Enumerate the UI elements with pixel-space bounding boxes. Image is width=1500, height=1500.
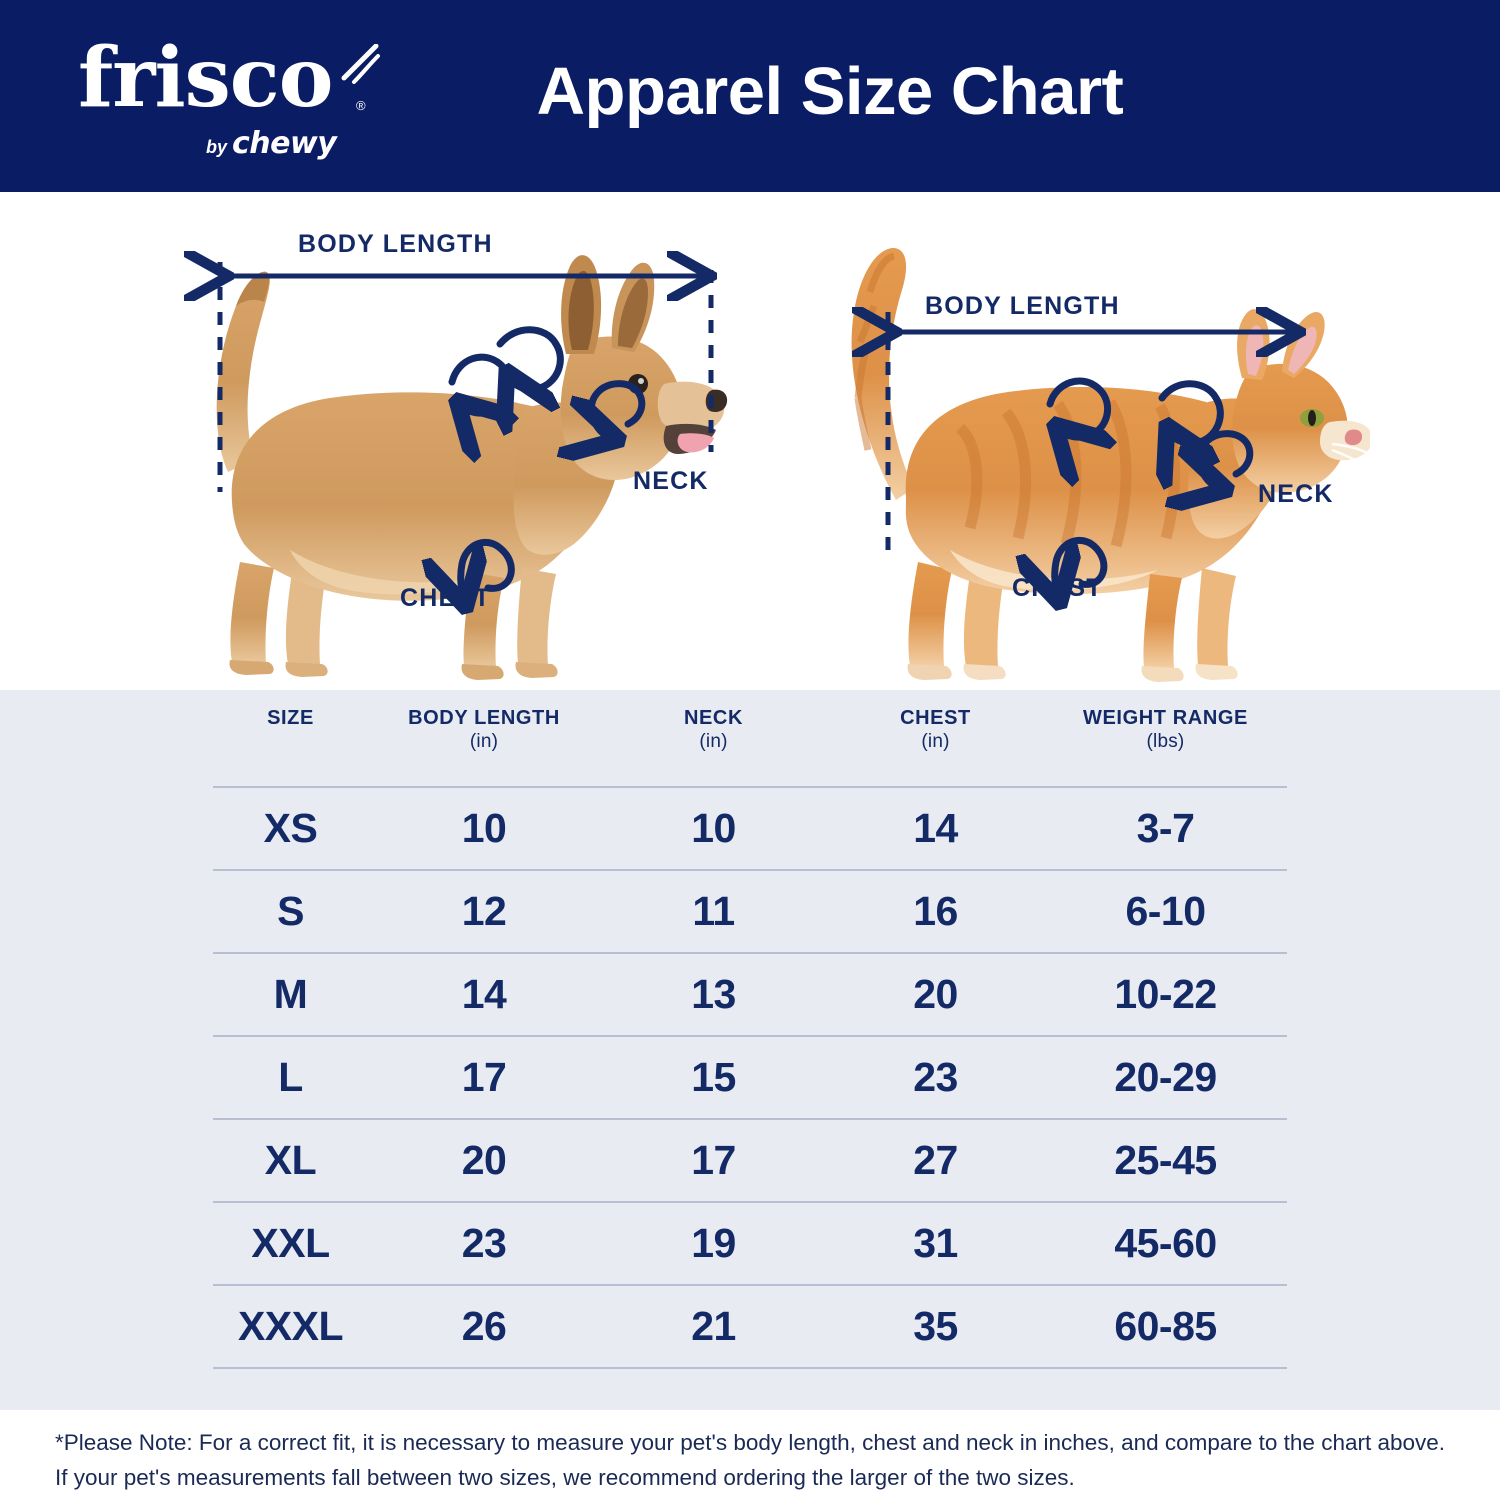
column-header-chest-label: CHEST xyxy=(900,707,971,729)
cell-weight-range: 20-29 xyxy=(1044,1054,1287,1101)
cell-neck: 15 xyxy=(600,1054,827,1101)
cell-body-length: 26 xyxy=(368,1303,600,1350)
column-header-weight-range-label: WEIGHT RANGE xyxy=(1083,707,1248,729)
table-row: XL 20 17 27 25-45 xyxy=(213,1120,1287,1201)
page-title: Apparel Size Chart xyxy=(0,53,1500,130)
cell-chest: 23 xyxy=(827,1054,1044,1101)
cell-chest: 35 xyxy=(827,1303,1044,1350)
cell-body-length: 23 xyxy=(368,1220,600,1267)
dog-neck-arrow-lower xyxy=(500,330,560,390)
cell-weight-range: 60-85 xyxy=(1044,1303,1287,1350)
dog-chest-label: CHEST xyxy=(400,584,491,613)
cell-body-length: 14 xyxy=(368,971,600,1018)
cell-chest: 31 xyxy=(827,1220,1044,1267)
dog-neck-arrow-throat xyxy=(591,384,641,438)
dog-neck-label: NECK xyxy=(633,467,709,496)
footnote-text: *Please Note: For a correct fit, it is n… xyxy=(55,1425,1455,1495)
dog-neck-arrow-upper xyxy=(452,357,510,413)
cat-body-length-label: BODY LENGTH xyxy=(925,292,1120,321)
column-header-neck-unit: (in) xyxy=(600,730,827,754)
column-header-neck: NECK (in) xyxy=(600,706,827,786)
cell-weight-range: 3-7 xyxy=(1044,805,1287,852)
column-header-size: SIZE xyxy=(213,706,368,786)
table-row: XXL 23 19 31 45-60 xyxy=(213,1203,1287,1284)
cell-neck: 13 xyxy=(600,971,827,1018)
cell-weight-range: 6-10 xyxy=(1044,888,1287,935)
logo-chewy-text: chewy xyxy=(232,126,336,161)
cell-weight-range: 25-45 xyxy=(1044,1137,1287,1184)
cell-neck: 10 xyxy=(600,805,827,852)
cat-neck-label: NECK xyxy=(1258,480,1334,509)
table-header-row: SIZE BODY LENGTH (in) NECK (in) CHEST (i… xyxy=(213,690,1287,786)
column-header-chest: CHEST (in) xyxy=(827,706,1044,786)
table-divider xyxy=(213,1367,1287,1369)
cell-size: S xyxy=(213,888,368,935)
table-row: XXXL 26 21 35 60-85 xyxy=(213,1286,1287,1367)
table-row: XS 10 10 14 3-7 xyxy=(213,788,1287,869)
cell-neck: 21 xyxy=(600,1303,827,1350)
cat-chest-label: CHEST xyxy=(1012,574,1103,603)
cell-body-length: 12 xyxy=(368,888,600,935)
cell-chest: 14 xyxy=(827,805,1044,852)
table-row: M 14 13 20 10-22 xyxy=(213,954,1287,1035)
column-header-weight-range: WEIGHT RANGE (lbs) xyxy=(1044,706,1287,786)
cell-weight-range: 10-22 xyxy=(1044,971,1287,1018)
apparel-size-chart-page: frisco ® by chewy Apparel Size Chart xyxy=(0,0,1500,1500)
size-table: SIZE BODY LENGTH (in) NECK (in) CHEST (i… xyxy=(213,690,1287,1369)
cell-body-length: 10 xyxy=(368,805,600,852)
cell-body-length: 20 xyxy=(368,1137,600,1184)
cell-neck: 17 xyxy=(600,1137,827,1184)
cat-neck-arrow-throat xyxy=(1199,434,1249,488)
cell-size: XXL xyxy=(213,1220,368,1267)
cell-size: L xyxy=(213,1054,368,1101)
illustration-band: BODY LENGTH NECK CHEST BODY LENGTH NECK … xyxy=(0,192,1500,690)
cell-size: XS xyxy=(213,805,368,852)
size-table-band: SIZE BODY LENGTH (in) NECK (in) CHEST (i… xyxy=(0,690,1500,1410)
header-band: frisco ® by chewy Apparel Size Chart xyxy=(0,0,1500,192)
column-header-size-label: SIZE xyxy=(267,707,314,729)
cell-chest: 20 xyxy=(827,971,1044,1018)
cell-neck: 11 xyxy=(600,888,827,935)
column-header-body-length: BODY LENGTH (in) xyxy=(368,706,600,786)
cell-weight-range: 45-60 xyxy=(1044,1220,1287,1267)
column-header-body-length-unit: (in) xyxy=(368,730,600,754)
cell-chest: 27 xyxy=(827,1137,1044,1184)
column-header-neck-label: NECK xyxy=(684,707,743,729)
measurement-overlay xyxy=(0,192,1500,690)
column-header-chest-unit: (in) xyxy=(827,730,1044,754)
logo-sublabel: by chewy xyxy=(206,126,336,161)
cell-chest: 16 xyxy=(827,888,1044,935)
table-row: L 17 15 23 20-29 xyxy=(213,1037,1287,1118)
table-row: S 12 11 16 6-10 xyxy=(213,871,1287,952)
cell-body-length: 17 xyxy=(368,1054,600,1101)
dog-body-length-label: BODY LENGTH xyxy=(298,230,493,259)
column-header-weight-range-unit: (lbs) xyxy=(1044,730,1287,754)
column-header-body-length-label: BODY LENGTH xyxy=(408,707,560,729)
cell-size: XXXL xyxy=(213,1303,368,1350)
cat-neck-arrow-upper xyxy=(1050,381,1108,437)
cell-size: XL xyxy=(213,1137,368,1184)
cell-neck: 19 xyxy=(600,1220,827,1267)
logo-by-text: by xyxy=(206,137,227,158)
cell-size: M xyxy=(213,971,368,1018)
